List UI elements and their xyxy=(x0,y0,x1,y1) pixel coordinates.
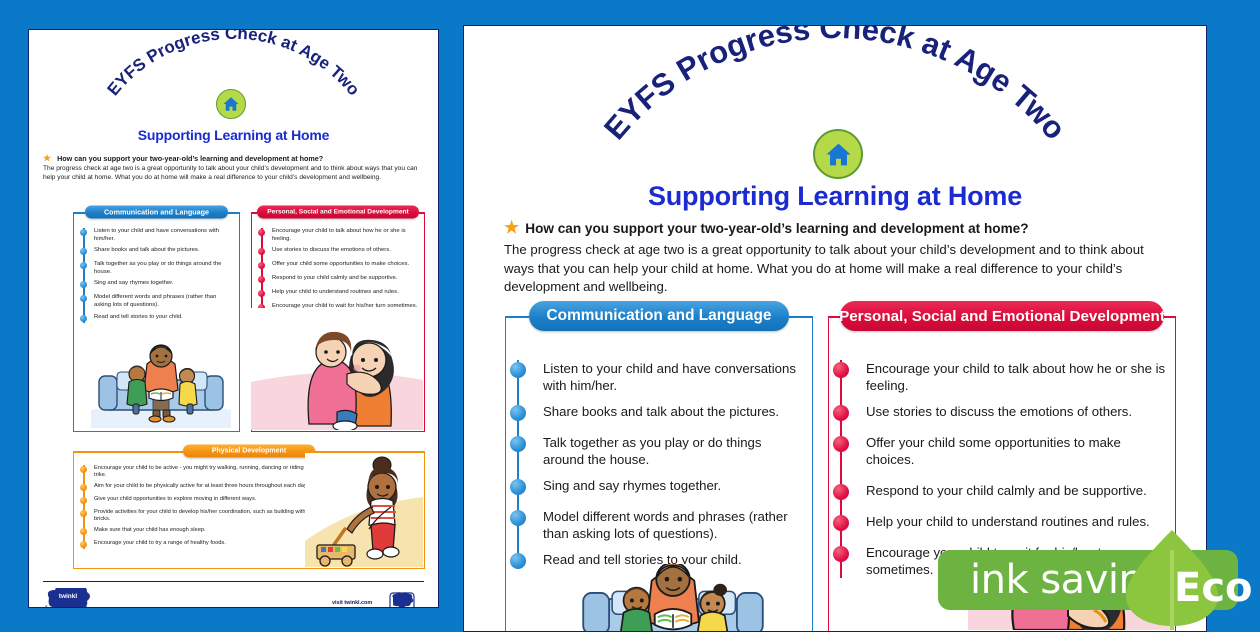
thumb-bullet: Aim for your child to be physically acti… xyxy=(83,483,311,492)
thumb-bullet: Listen to your child and have conversati… xyxy=(83,228,235,243)
thumb-pill-communication: Communication and Language xyxy=(85,206,228,219)
thumb-intro-heading: ★ How can you support your two-year-old’… xyxy=(43,154,425,163)
star-icon: ★ xyxy=(43,154,51,163)
bullet-dot-icon xyxy=(80,484,87,491)
house-icon xyxy=(813,129,863,179)
footer-divider xyxy=(43,581,424,582)
house-icon xyxy=(216,89,246,119)
thumb-bullet: Encourage your child to be active - you … xyxy=(83,465,311,480)
footer-visit-link[interactable]: visit twinkl.com xyxy=(332,600,372,606)
main-bullet: Offer your child some opportunities to m… xyxy=(840,434,1166,468)
bullet-dot-icon xyxy=(80,295,87,302)
illustration-mother-hugging-child xyxy=(251,308,423,430)
thumb-section-physical-development[interactable]: Physical Development Encourage your chil… xyxy=(73,451,425,569)
main-bullet: Use stories to discuss the emotions of o… xyxy=(840,403,1166,420)
bullet-dot-icon xyxy=(833,515,849,531)
bullet-dot-icon xyxy=(510,405,526,421)
bullet-dot-icon xyxy=(80,541,87,548)
twinkl-logo[interactable]: twinkl foundation xyxy=(45,588,91,608)
thumb-pill-physical: Physical Development xyxy=(183,445,315,458)
thumb-bullet: Offer your child some opportunities to m… xyxy=(261,261,419,270)
bullet-dot-icon xyxy=(80,528,87,535)
bullet-dot-icon xyxy=(510,553,526,569)
bullet-dot-icon xyxy=(258,262,265,269)
thumb-pill-personal: Personal, Social and Emotional Developme… xyxy=(257,206,419,219)
main-intro-body: The progress check at age two is a great… xyxy=(504,241,1176,297)
thumb-section-communication-and-language[interactable]: Communication and Language Listen to you… xyxy=(73,212,240,432)
svg-text:foundation: foundation xyxy=(45,606,81,608)
thumb-title-arc: EYFS Progress Check at Age Two xyxy=(29,30,438,135)
bullet-dot-icon xyxy=(833,362,849,378)
bullet-dot-icon xyxy=(80,497,87,504)
thumb-bullet: Share books and talk about the pictures. xyxy=(83,247,235,256)
bullet-dot-icon xyxy=(80,229,87,236)
thumb-bullet: Provide activities for your child to dev… xyxy=(83,509,311,524)
bullet-dot-icon xyxy=(80,510,87,517)
bullet-dot-icon xyxy=(833,436,849,452)
bullet-dot-icon xyxy=(833,405,849,421)
illustration-grandfather-reading xyxy=(91,330,231,428)
bullet-dot-icon xyxy=(510,362,526,378)
main-section-communication-and-language[interactable]: Communication and Language Listen to you… xyxy=(505,316,813,631)
thumb-bullet: Encourage your child to try a range of h… xyxy=(83,540,311,549)
main-subtitle: Supporting Learning at Home xyxy=(464,181,1206,212)
thumb-bullet: Model different words and phrases (rathe… xyxy=(83,294,235,309)
main-pill-personal: Personal, Social and Emotional Developme… xyxy=(840,301,1164,331)
thumb-bullet: Talk together as you play or do things a… xyxy=(83,261,235,276)
main-bullet: Encourage your child to talk about how h… xyxy=(840,360,1166,394)
thumb-bullet: Sing and say rhymes together. xyxy=(83,280,235,289)
bullet-dot-icon xyxy=(80,248,87,255)
thumb-subtitle: Supporting Learning at Home xyxy=(29,127,438,143)
main-bullet: Model different words and phrases (rathe… xyxy=(517,508,801,542)
main-intro-heading: ★ How can you support your two-year-old’… xyxy=(504,220,1176,238)
bullet-dot-icon xyxy=(80,315,87,322)
bullet-dot-icon xyxy=(258,248,265,255)
bullet-dot-icon xyxy=(80,466,87,473)
main-bullet: Share books and talk about the pictures. xyxy=(517,403,801,420)
eco-badge-leaf-label: Eco xyxy=(1174,565,1253,611)
main-bullet: Sing and say rhymes together. xyxy=(517,477,801,494)
thumb-bullet: Respond to your child calmly and be supp… xyxy=(261,275,419,284)
thumb-intro-heading-text: How can you support your two-year-old’s … xyxy=(57,154,323,163)
bullet-dot-icon xyxy=(258,290,265,297)
main-intro-heading-text: How can you support your two-year-old’s … xyxy=(525,220,1028,238)
main-pill-communication: Communication and Language xyxy=(529,301,789,331)
bullet-dot-icon xyxy=(80,281,87,288)
bullet-dot-icon xyxy=(80,262,87,269)
bullet-dot-icon xyxy=(833,484,849,500)
illustration-grandfather-reading xyxy=(549,564,797,632)
bullet-dot-icon xyxy=(510,479,526,495)
bullet-dot-icon xyxy=(258,276,265,283)
bullet-dot-icon xyxy=(833,546,849,562)
thumb-bullet: Give your child opportunities to explore… xyxy=(83,496,311,505)
illustration-girl-pushing-cart xyxy=(305,453,423,567)
twinkl-badge-icon xyxy=(389,592,415,608)
svg-text:twinkl: twinkl xyxy=(59,593,78,600)
thumb-bullet: Read and tell stories to your child. xyxy=(83,314,235,323)
eco-badge: ink saving Eco xyxy=(938,528,1260,630)
thumb-bullet: Use stories to discuss the emotions of o… xyxy=(261,247,419,256)
bullet-dot-icon xyxy=(510,436,526,452)
thumb-bullet: Make sure that your child has enough sle… xyxy=(83,527,311,536)
main-bullet: Talk together as you play or do things a… xyxy=(517,434,801,468)
thumb-section-personal-social-and-emotional-development[interactable]: Personal, Social and Emotional Developme… xyxy=(251,212,425,432)
thumb-intro-body: The progress check at age two is a great… xyxy=(43,165,425,183)
star-icon: ★ xyxy=(504,219,519,236)
main-bullet: Respond to your child calmly and be supp… xyxy=(840,482,1166,499)
thumb-bullet: Help your child to understand routines a… xyxy=(261,289,419,298)
document-thumbnail-page[interactable]: EYFS Progress Check at Age Two Supportin… xyxy=(28,29,439,608)
bullet-dot-icon xyxy=(510,510,526,526)
bullet-dot-icon xyxy=(258,229,265,236)
thumb-bullet: Encourage your child to talk about how h… xyxy=(261,228,419,243)
main-bullet: Listen to your child and have conversati… xyxy=(517,360,801,394)
